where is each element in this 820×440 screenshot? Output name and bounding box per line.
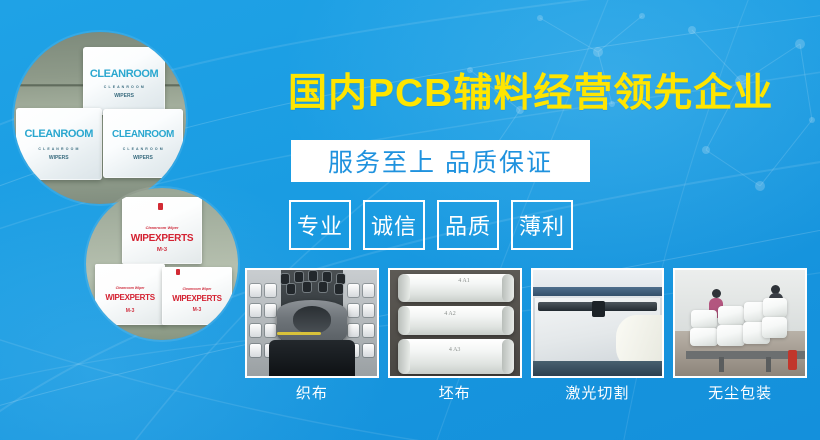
wipexperts-sub: Cleanroom Wiper [162, 287, 232, 291]
wipexperts-brand: WIPEXPERTS [162, 294, 232, 303]
banner-subtitle: 服务至上 品质保证 [328, 143, 553, 179]
red-stamp-mark [158, 203, 163, 210]
caption-greige-fabric: 坯布 [388, 382, 522, 403]
pack-brand-label: CLEANROOM [16, 128, 102, 140]
pack-product-label: WIPERS [103, 155, 182, 161]
red-stamp-mark [176, 269, 180, 275]
feature-tag-low-margin[interactable]: 薄利 [511, 200, 573, 250]
caption-laser-cutting: 激光切割 [531, 382, 665, 403]
process-photo-weaving[interactable] [245, 268, 379, 378]
process-photo-laser-cutting[interactable] [531, 268, 665, 378]
wipexperts-pack-top: Cleanroom Wiper WIPEXPERTS M-3 [122, 197, 201, 264]
wipe-pack-top: CLEANROOM C L E A N R O O M WIPERS [83, 47, 166, 114]
product-photo-wipexperts: Cleanroom Wiper WIPEXPERTS M-3 Cleanroom… [86, 188, 238, 340]
feature-tag-label: 专业 [297, 209, 343, 241]
pack-product-label: WIPERS [16, 155, 102, 161]
process-photo-strip: 4 A1 4 A2 4 A3 [245, 268, 807, 378]
pack-product-label: WIPERS [83, 93, 166, 99]
feature-tag-label: 品质 [445, 209, 491, 241]
pack-brand-sub: C L E A N R O O M [83, 85, 166, 89]
pack-brand-sub: C L E A N R O O M [16, 147, 102, 151]
banner-subtitle-panel: 服务至上 品质保证 [291, 140, 590, 182]
wipexperts-brand: WIPEXPERTS [122, 233, 201, 244]
wipexperts-sub: Cleanroom Wiper [95, 286, 165, 290]
feature-tag-integrity[interactable]: 诚信 [363, 200, 425, 250]
laser-cutter-image [533, 270, 663, 376]
product-photo-cleanroom-wipes: CLEANROOM C L E A N R O O M WIPERS CLEAN… [14, 32, 186, 204]
wipexperts-product: M-3 [95, 308, 165, 314]
banner-headline: 国内PCB辅料经营领先企业 [288, 74, 773, 113]
feature-tag-professional[interactable]: 专业 [289, 200, 351, 250]
fabric-rolls-image: 4 A1 4 A2 4 A3 [390, 270, 520, 376]
caption-cleanroom-packaging: 无尘包装 [673, 382, 807, 403]
pack-brand-label: CLEANROOM [103, 129, 182, 140]
caption-weaving: 织布 [245, 382, 379, 403]
feature-tag-quality[interactable]: 品质 [437, 200, 499, 250]
feature-tag-label: 诚信 [371, 209, 417, 241]
wipexperts-product: M-3 [122, 247, 201, 253]
wipexperts-product: M-3 [162, 307, 232, 313]
promo-banner: CLEANROOM C L E A N R O O M WIPERS CLEAN… [0, 0, 820, 440]
wipe-pack-left: CLEANROOM C L E A N R O O M WIPERS [16, 108, 102, 180]
wipexperts-backdrop: Cleanroom Wiper WIPEXPERTS M-3 Cleanroom… [86, 188, 238, 340]
wipexperts-brand: WIPEXPERTS [95, 293, 165, 302]
feature-tag-list: 专业 诚信 品质 薄利 [289, 200, 573, 250]
pack-brand-label: CLEANROOM [83, 68, 166, 80]
knitting-machine-image [247, 270, 377, 376]
packaging-room-image [675, 270, 805, 376]
process-caption-row: 织布 坯布 激光切割 无尘包装 [245, 382, 807, 403]
wipexperts-pack-right: Cleanroom Wiper WIPEXPERTS M-3 [162, 267, 232, 325]
feature-tag-label: 薄利 [519, 209, 565, 241]
cleanroom-shelf-backdrop: CLEANROOM C L E A N R O O M WIPERS CLEAN… [14, 32, 186, 204]
wipe-pack-right: CLEANROOM C L E A N R O O M WIPERS [103, 109, 182, 178]
process-photo-cleanroom-packaging[interactable] [673, 268, 807, 378]
wipexperts-pack-left: Cleanroom Wiper WIPEXPERTS M-3 [95, 264, 165, 325]
pack-brand-sub: C L E A N R O O M [103, 147, 182, 151]
wipexperts-sub: Cleanroom Wiper [122, 225, 201, 230]
process-photo-greige-fabric[interactable]: 4 A1 4 A2 4 A3 [388, 268, 522, 378]
